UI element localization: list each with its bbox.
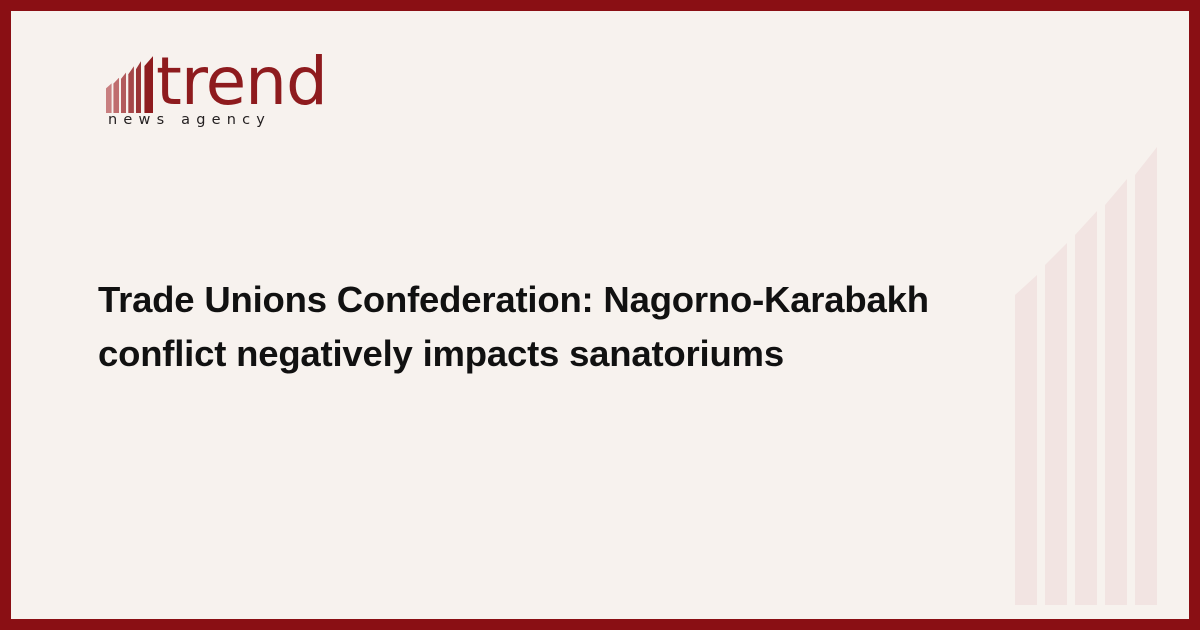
decor-bar — [1075, 211, 1097, 605]
logo-mark-bar — [121, 72, 127, 113]
logo-wordmark: trend — [156, 49, 327, 115]
logo-tagline: news agency — [108, 113, 271, 128]
logo-mark-bar — [144, 56, 153, 113]
logo-mark-bar — [128, 66, 134, 113]
headline: Trade Unions Confederation: Nagorno-Kara… — [98, 273, 998, 381]
decor-bar — [1105, 179, 1127, 605]
logo-mark-bar — [106, 83, 112, 113]
article-share-card: trend news agency Trade Unions Confedera… — [0, 0, 1200, 630]
trend-news-agency-logo[interactable]: trend news agency — [98, 47, 398, 147]
decor-bar — [1015, 275, 1037, 605]
decor-bar — [1045, 243, 1067, 605]
logo-mark-bar — [136, 61, 142, 113]
ascending-bars-graphic — [1015, 171, 1181, 605]
decor-bar — [1135, 147, 1157, 605]
card-canvas: trend news agency Trade Unions Confedera… — [11, 11, 1189, 619]
logo-mark-bar — [113, 78, 119, 113]
